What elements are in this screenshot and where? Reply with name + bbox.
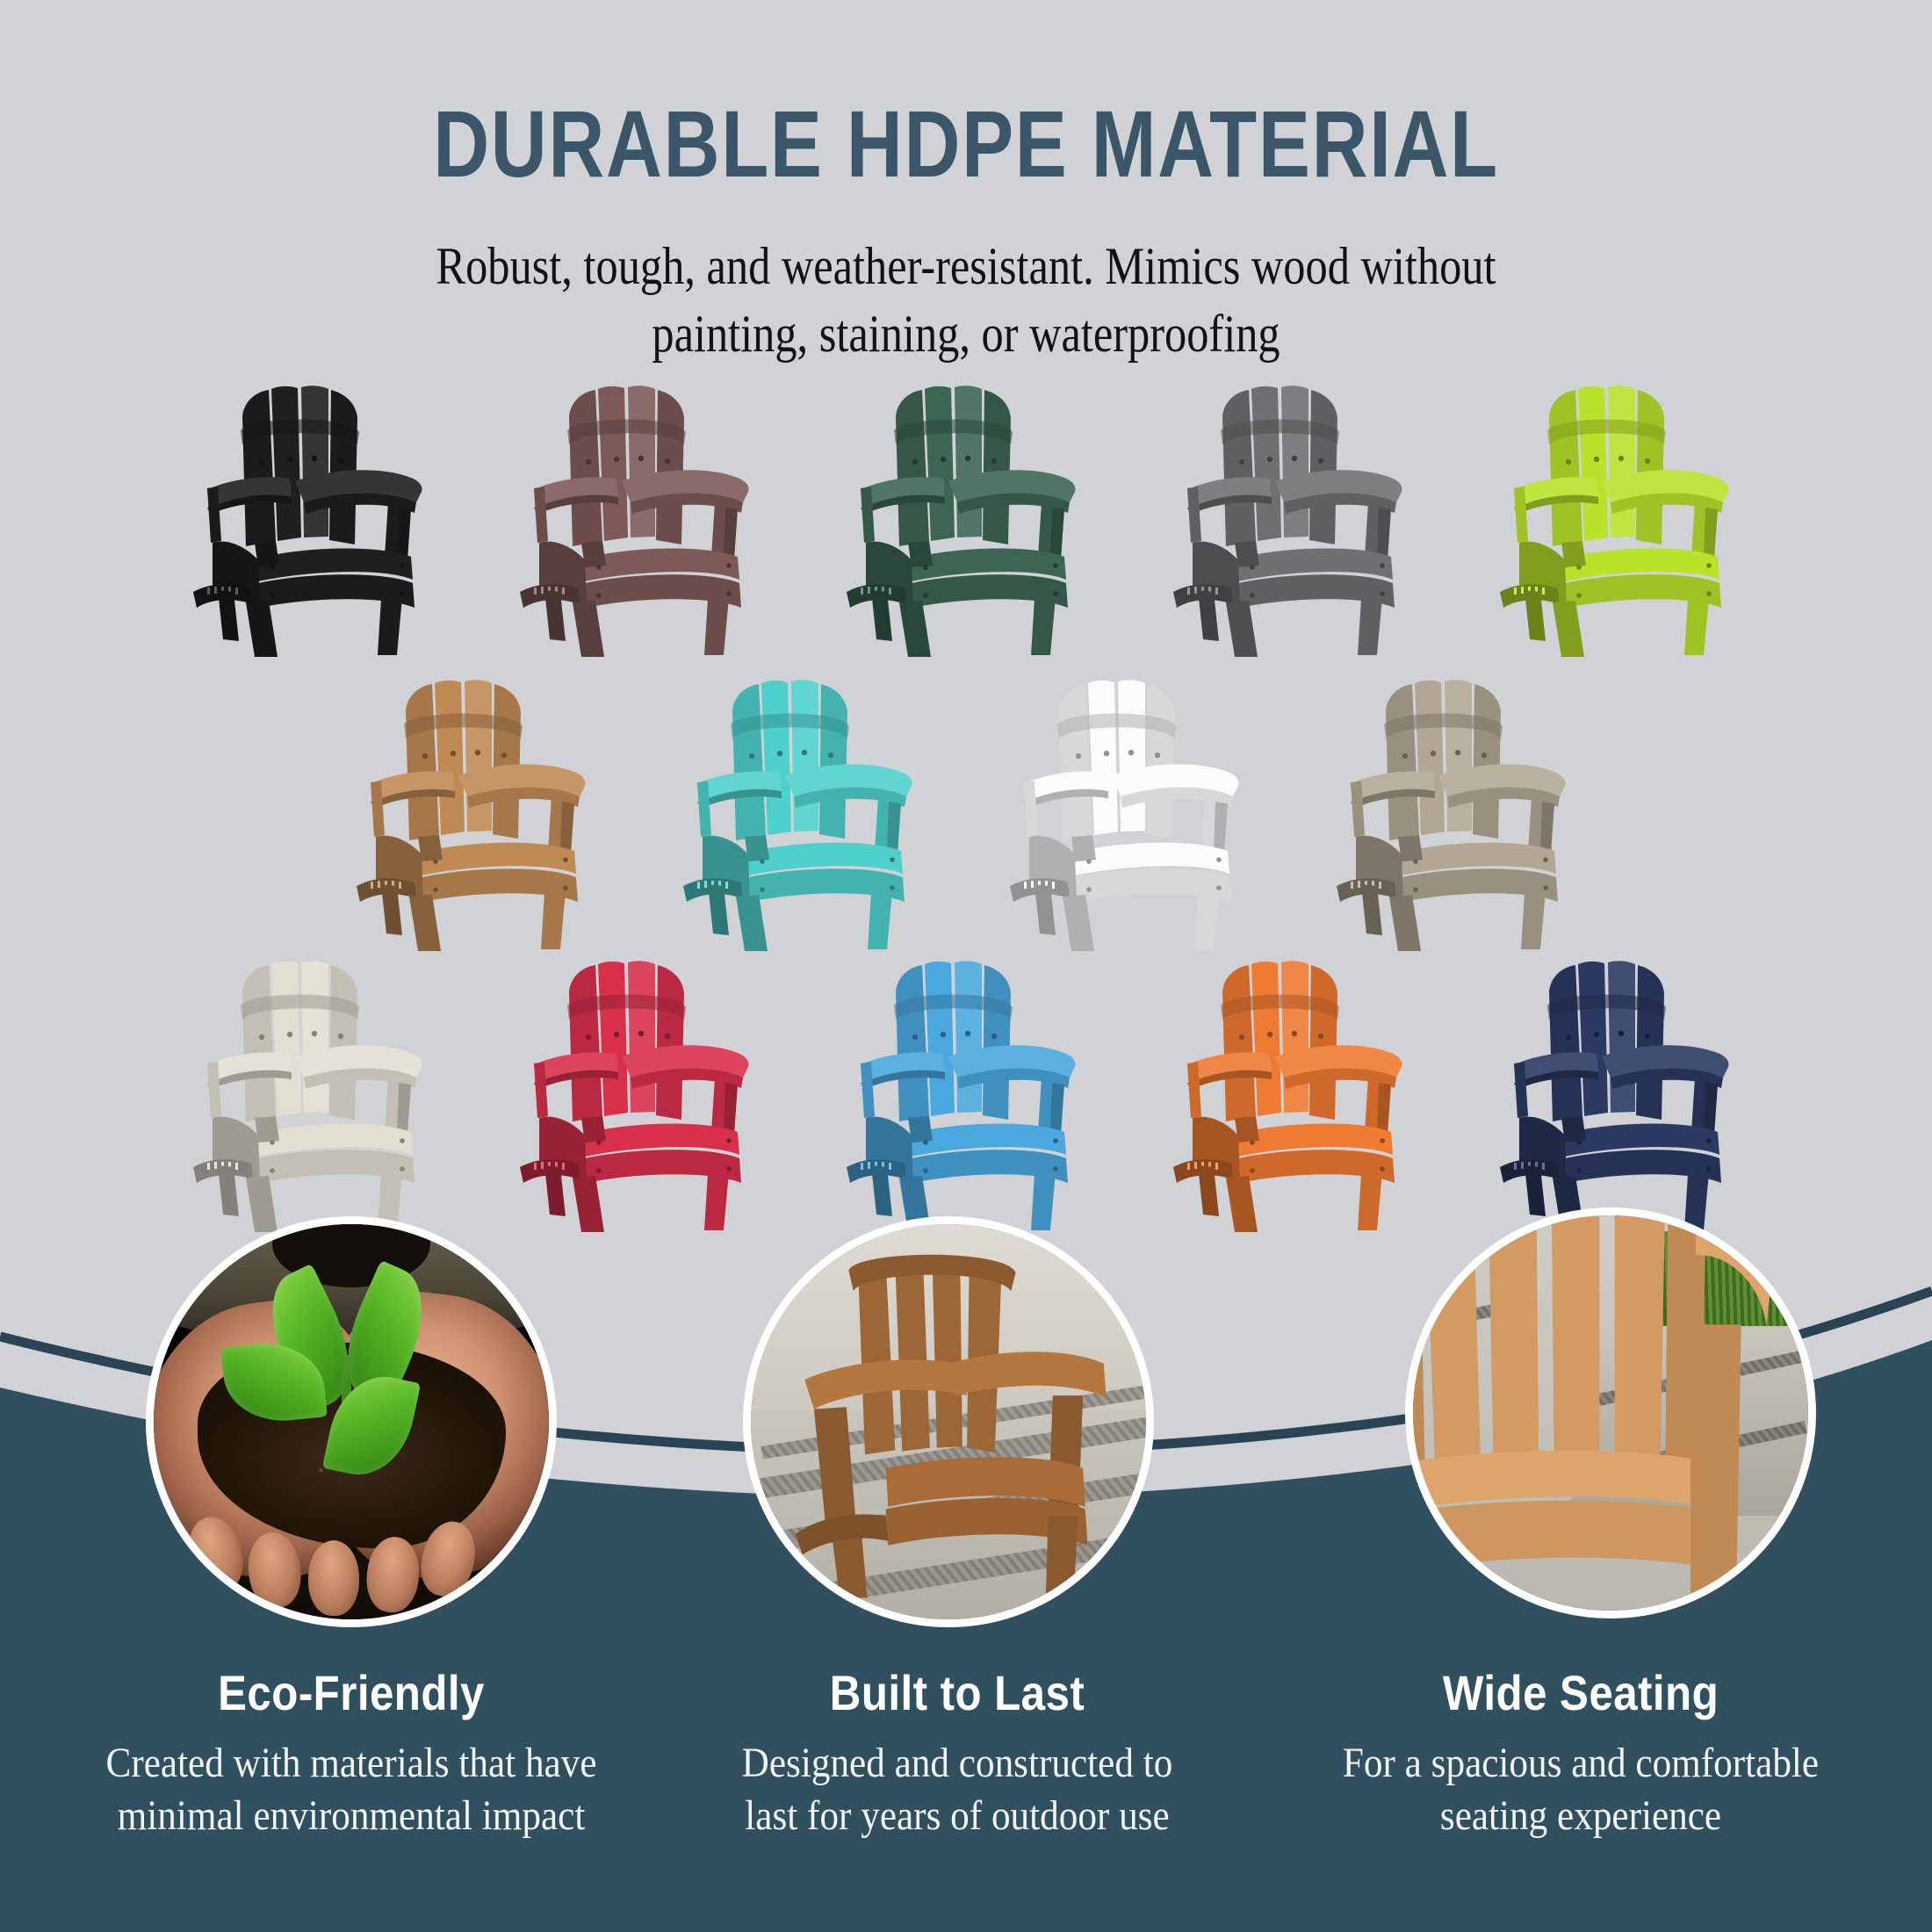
feature-caption-eco-friendly: Eco-Friendly Created with materials that…	[61, 1664, 641, 1842]
chair-swatch-teak-brown[interactable]	[344, 672, 608, 953]
infographic-canvas: DURABLE HDPE MATERIAL Robust, tough, and…	[0, 0, 1932, 1932]
feature-text-wide-seating: For a spacious and comfortable seating e…	[1320, 1737, 1842, 1842]
feature-caption-wide-seating: Wide Seating For a spacious and comforta…	[1291, 1664, 1871, 1842]
feature-title-wide-seating: Wide Seating	[1326, 1664, 1836, 1721]
feature-text-line-1: For a spacious and comfortable	[1343, 1740, 1819, 1786]
feature-text-line-2: minimal environmental impact	[118, 1792, 586, 1839]
feature-image-eco-friendly	[146, 1216, 557, 1627]
chair-color-grid	[0, 0, 1932, 1317]
chair-row-2	[0, 672, 1932, 953]
chair-swatch-khaki[interactable]	[1324, 672, 1588, 953]
chair-swatch-light-blue[interactable]	[834, 953, 1098, 1234]
brown-adirondack-chair-icon	[751, 1224, 1146, 1619]
chair-row-1	[0, 378, 1932, 659]
feature-text-line-2: last for years of outdoor use	[745, 1792, 1169, 1839]
feature-text-built-to-last: Designed and constructed to last for yea…	[696, 1737, 1218, 1842]
chair-row-3	[0, 953, 1932, 1234]
feature-image-built-to-last	[743, 1216, 1154, 1627]
feature-caption-built-to-last: Built to Last Designed and constructed t…	[667, 1664, 1247, 1842]
chair-swatch-brown[interactable]	[508, 378, 771, 659]
wide-seat-closeup-icon	[1413, 1215, 1808, 1611]
feature-text-line-1: Created with materials that have	[106, 1740, 597, 1786]
feature-title-eco-friendly: Eco-Friendly	[97, 1664, 607, 1721]
chair-swatch-ivory[interactable]	[181, 953, 444, 1234]
chair-swatch-lime-green[interactable]	[1488, 378, 1751, 659]
feature-text-eco-friendly: Created with materials that have minimal…	[90, 1737, 612, 1842]
chair-swatch-gray[interactable]	[1161, 378, 1424, 659]
chair-swatch-red[interactable]	[508, 953, 771, 1234]
chair-swatch-white[interactable]	[998, 672, 1261, 953]
feature-image-wide-seating	[1405, 1207, 1816, 1618]
hands-holding-seedling-icon	[154, 1224, 549, 1619]
chair-swatch-orange[interactable]	[1161, 953, 1424, 1234]
feature-title-built-to-last: Built to Last	[703, 1664, 1213, 1721]
chair-swatch-dark-green[interactable]	[834, 378, 1098, 659]
feature-text-line-2: seating experience	[1440, 1792, 1721, 1839]
chair-swatch-turquoise[interactable]	[671, 672, 934, 953]
chair-swatch-black[interactable]	[181, 378, 444, 659]
feature-text-line-1: Designed and constructed to	[742, 1740, 1173, 1786]
chair-swatch-navy-blue[interactable]	[1488, 953, 1751, 1234]
